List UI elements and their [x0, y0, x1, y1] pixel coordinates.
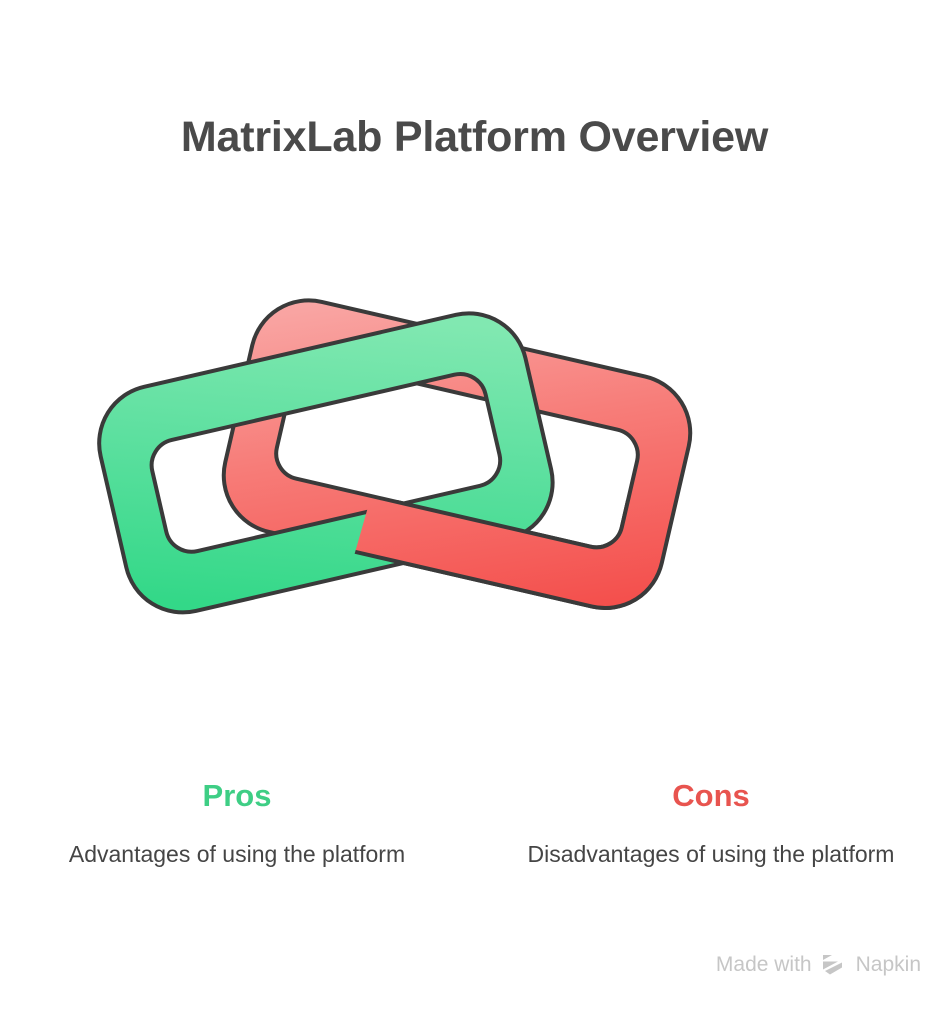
legend: Pros Advantages of using the platform Co…: [0, 775, 949, 871]
napkin-watermark: Made with Napkin: [716, 952, 921, 978]
legend-description-cons: Disadvantages of using the platform: [516, 837, 906, 871]
rings-svg: [70, 245, 900, 675]
legend-heading-pros: Pros: [42, 775, 432, 817]
legend-heading-cons: Cons: [516, 775, 906, 817]
napkin-logo-icon: [821, 954, 847, 976]
diagram-page: MatrixLab Platform Overview: [0, 0, 949, 1024]
watermark-brand: Napkin: [856, 952, 921, 978]
legend-item-cons: Cons Disadvantages of using the platform: [474, 775, 948, 871]
page-title: MatrixLab Platform Overview: [0, 108, 949, 166]
interlocking-rings-diagram: [70, 245, 900, 675]
legend-description-pros: Advantages of using the platform: [42, 837, 432, 871]
watermark-prefix: Made with: [716, 952, 812, 978]
legend-item-pros: Pros Advantages of using the platform: [0, 775, 474, 871]
